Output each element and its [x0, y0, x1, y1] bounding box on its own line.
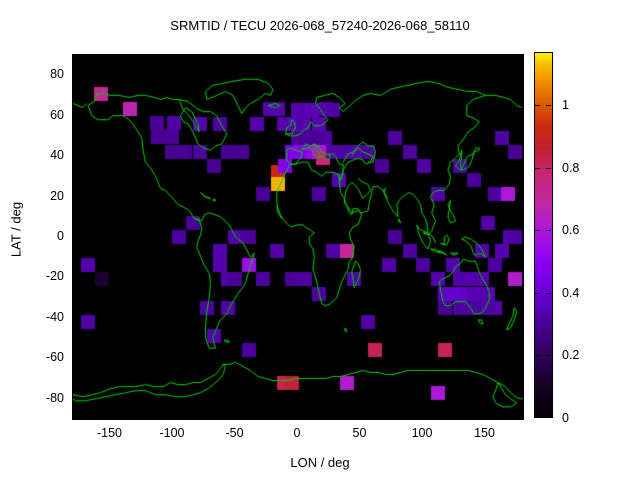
colorbar[interactable]: [534, 52, 553, 418]
y-tick-label: 80: [20, 67, 64, 81]
x-tick-label: -150: [97, 426, 122, 440]
colorbar-tick-mark: [535, 355, 540, 356]
colorbar-tick-label: 1: [562, 98, 569, 112]
map-scatter-canvas[interactable]: [73, 55, 523, 419]
y-tick-label: -80: [20, 391, 64, 405]
x-tick-label: 150: [474, 426, 495, 440]
y-tick-label: 0: [20, 229, 64, 243]
colorbar-tick-mark: [546, 168, 551, 169]
colorbar-tick-label: 0: [562, 411, 569, 425]
y-axis-label: LAT / deg: [9, 180, 24, 280]
y-tick-label: 40: [20, 148, 64, 162]
colorbar-tick-label: 0.8: [562, 161, 579, 175]
y-tick-label: 20: [20, 189, 64, 203]
map-plot-area[interactable]: [72, 54, 524, 420]
colorbar-tick-mark: [535, 293, 540, 294]
y-tick-label: 60: [20, 108, 64, 122]
y-tick-label: -60: [20, 350, 64, 364]
colorbar-tick-mark: [546, 105, 551, 106]
plot-window: SRMTID / TECU 2026-068_57240-2026-068_58…: [0, 0, 640, 480]
x-tick-label: -50: [225, 426, 243, 440]
colorbar-tick-mark: [546, 293, 551, 294]
y-tick-label: -20: [20, 269, 64, 283]
colorbar-tick-mark: [535, 168, 540, 169]
x-tick-label: 100: [412, 426, 433, 440]
colorbar-tick-label: 0.4: [562, 286, 579, 300]
colorbar-tick-mark: [546, 355, 551, 356]
x-axis-label: LON / deg: [0, 455, 640, 470]
colorbar-tick-mark: [535, 230, 540, 231]
x-tick-label: 50: [353, 426, 367, 440]
colorbar-tick-mark: [535, 105, 540, 106]
colorbar-tick-mark: [546, 230, 551, 231]
colorbar-tick-label: 0.2: [562, 348, 579, 362]
colorbar-tick-label: 0.6: [562, 223, 579, 237]
x-tick-label: 0: [294, 426, 301, 440]
page-title: SRMTID / TECU 2026-068_57240-2026-068_58…: [0, 18, 640, 33]
colorbar-gradient: [535, 53, 552, 417]
y-tick-label: -40: [20, 310, 64, 324]
x-tick-label: -100: [159, 426, 184, 440]
